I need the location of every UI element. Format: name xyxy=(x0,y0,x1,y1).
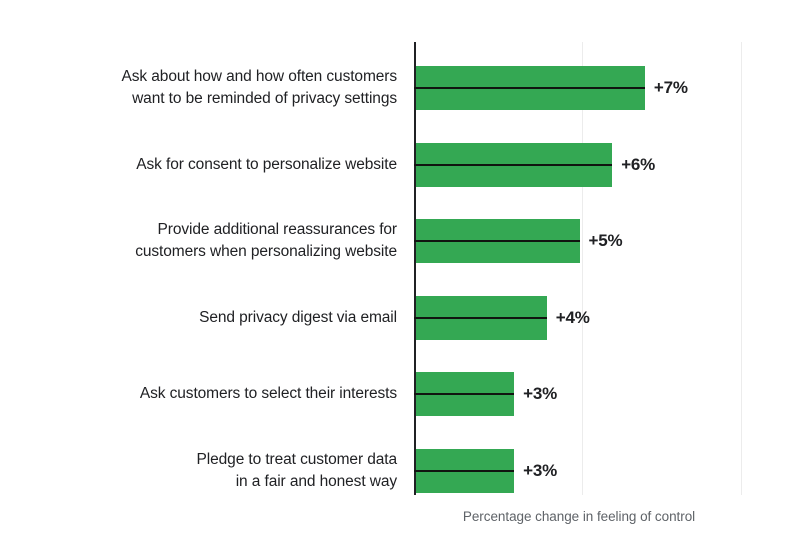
bar-wrapper xyxy=(416,296,547,340)
bar-value-label: +6% xyxy=(621,155,655,175)
bar-midline xyxy=(414,164,612,166)
bar-wrapper xyxy=(416,219,580,263)
x-axis-caption: Percentage change in feeling of control xyxy=(414,509,744,524)
bar-midline xyxy=(414,317,547,319)
bar-midline xyxy=(414,240,580,242)
bar-value-label: +7% xyxy=(654,78,688,98)
bar-wrapper xyxy=(416,449,514,493)
category-label: Ask for consent to personalize website xyxy=(0,154,397,176)
bar-wrapper xyxy=(416,143,612,187)
bar-row: Send privacy digest via email+4% xyxy=(0,296,799,340)
bar-value-label: +3% xyxy=(523,384,557,404)
category-label: Ask customers to select their interests xyxy=(0,383,397,405)
bar-chart: Ask about how and how often customers wa… xyxy=(0,0,799,546)
bar-wrapper xyxy=(416,66,645,110)
bar-value-label: +3% xyxy=(523,461,557,481)
category-label: Ask about how and how often customers wa… xyxy=(0,66,397,110)
bar-row: Ask for consent to personalize website+6… xyxy=(0,143,799,187)
bar-value-label: +5% xyxy=(589,231,623,251)
category-label: Pledge to treat customer data in a fair … xyxy=(0,449,397,493)
bar-midline xyxy=(414,87,645,89)
bar-row: Pledge to treat customer data in a fair … xyxy=(0,449,799,493)
bar-value-label: +4% xyxy=(556,308,590,328)
bar-row: Provide additional reassurances for cust… xyxy=(0,219,799,263)
bar-wrapper xyxy=(416,372,514,416)
bar-row: Ask about how and how often customers wa… xyxy=(0,66,799,110)
category-label: Send privacy digest via email xyxy=(0,307,397,329)
bar-row: Ask customers to select their interests+… xyxy=(0,372,799,416)
bar-midline xyxy=(414,393,514,395)
category-label: Provide additional reassurances for cust… xyxy=(0,219,397,263)
bar-midline xyxy=(414,470,514,472)
